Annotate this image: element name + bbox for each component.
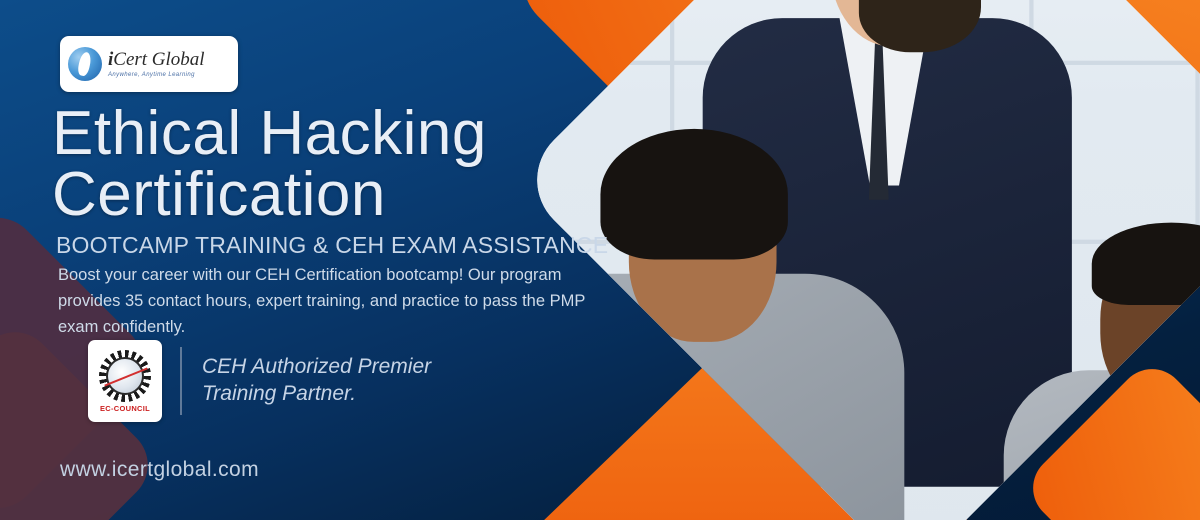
subheadline: BOOTCAMP TRAINING & CEH EXAM ASSISTANCE xyxy=(56,232,608,259)
headline-line-2: Certification xyxy=(52,165,632,226)
ec-council-label: EC-COUNCIL xyxy=(100,404,150,413)
vertical-divider xyxy=(180,347,182,415)
page-title: Ethical Hacking Certification xyxy=(52,104,632,226)
brand-logo[interactable]: iCert Global Anywhere, Anytime Learning xyxy=(60,36,238,92)
headline-line-1: Ethical Hacking xyxy=(52,99,487,168)
ec-council-seal-icon: EC-COUNCIL xyxy=(88,340,162,422)
brand-name: iCert Global xyxy=(108,50,205,69)
person-right-hair xyxy=(1092,223,1200,305)
ec-council-ring xyxy=(99,350,151,402)
body-copy: Boost your career with our CEH Certifica… xyxy=(58,262,606,340)
promo-banner: iCert Global Anywhere, Anytime Learning … xyxy=(0,0,1200,520)
partner-line-2: Training Partner. xyxy=(202,381,431,408)
accreditation-row: EC-COUNCIL CEH Authorized Premier Traini… xyxy=(88,340,431,422)
banner-content: iCert Global Anywhere, Anytime Learning … xyxy=(0,0,640,520)
partner-text: CEH Authorized Premier Training Partner. xyxy=(202,354,431,408)
website-url[interactable]: www.icertglobal.com xyxy=(60,458,259,482)
globe-swoosh-icon xyxy=(68,47,102,81)
brand-tagline: Anywhere, Anytime Learning xyxy=(108,72,205,78)
partner-line-1: CEH Authorized Premier xyxy=(202,354,431,381)
